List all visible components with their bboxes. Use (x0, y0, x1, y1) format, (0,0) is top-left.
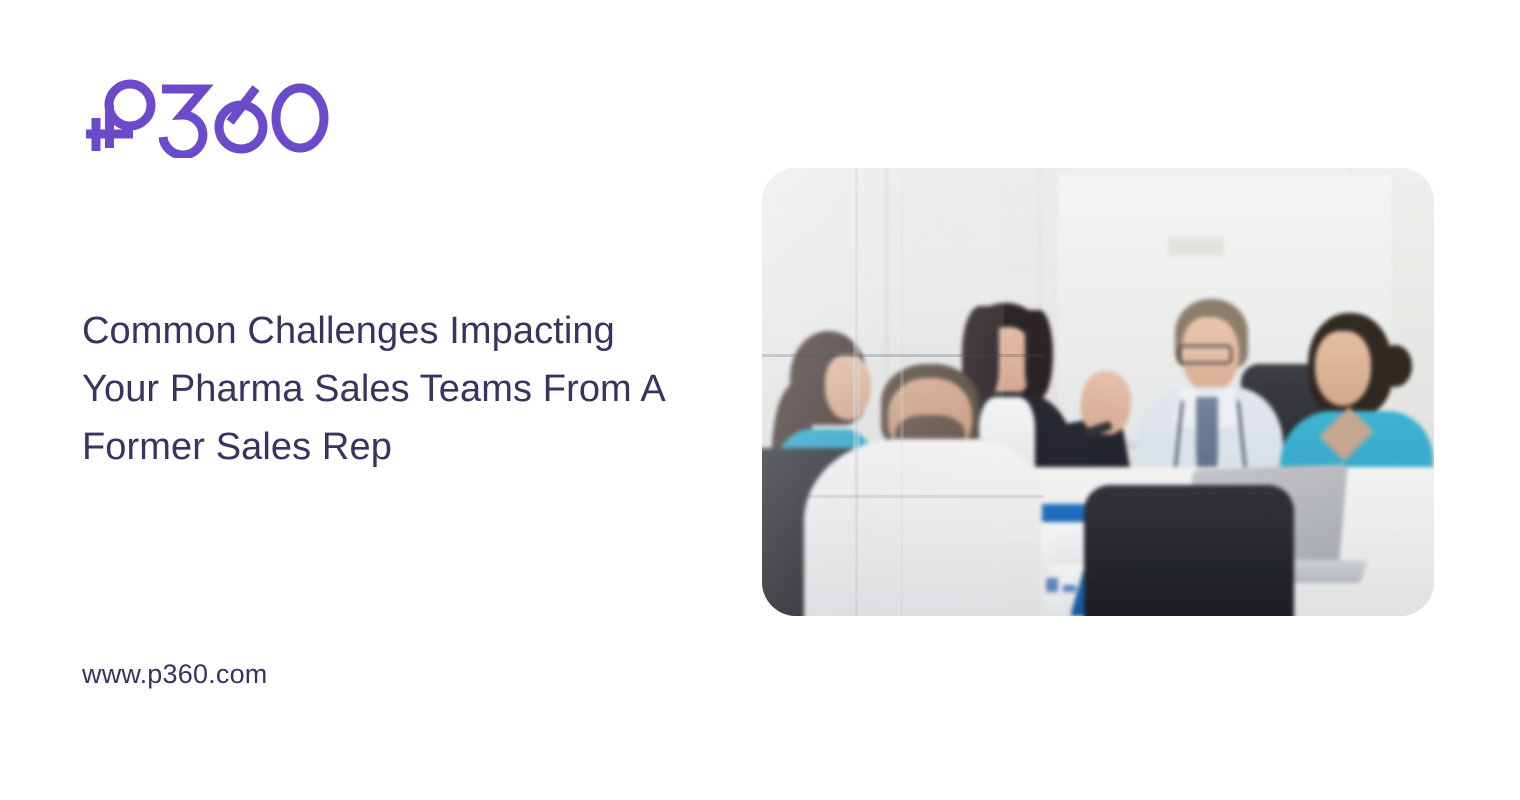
slide-canvas: Common Challenges Impacting Your Pharma … (0, 0, 1520, 800)
hero-image-scene (762, 168, 1434, 616)
p360-logo[interactable] (78, 72, 330, 158)
website-url[interactable]: www.p360.com (82, 657, 267, 691)
nurse-face (1315, 331, 1371, 406)
presenter-hair-strand (1025, 310, 1052, 399)
page-title: Common Challenges Impacting Your Pharma … (82, 302, 682, 476)
eyeglasses-icon (1178, 345, 1232, 364)
attendee-shirt (804, 439, 1042, 616)
office-chair (1084, 485, 1294, 616)
wall-notice (1168, 238, 1224, 254)
hero-image (762, 168, 1434, 616)
scene-soft-focus-group (762, 168, 1434, 616)
colleague-face (825, 355, 870, 420)
